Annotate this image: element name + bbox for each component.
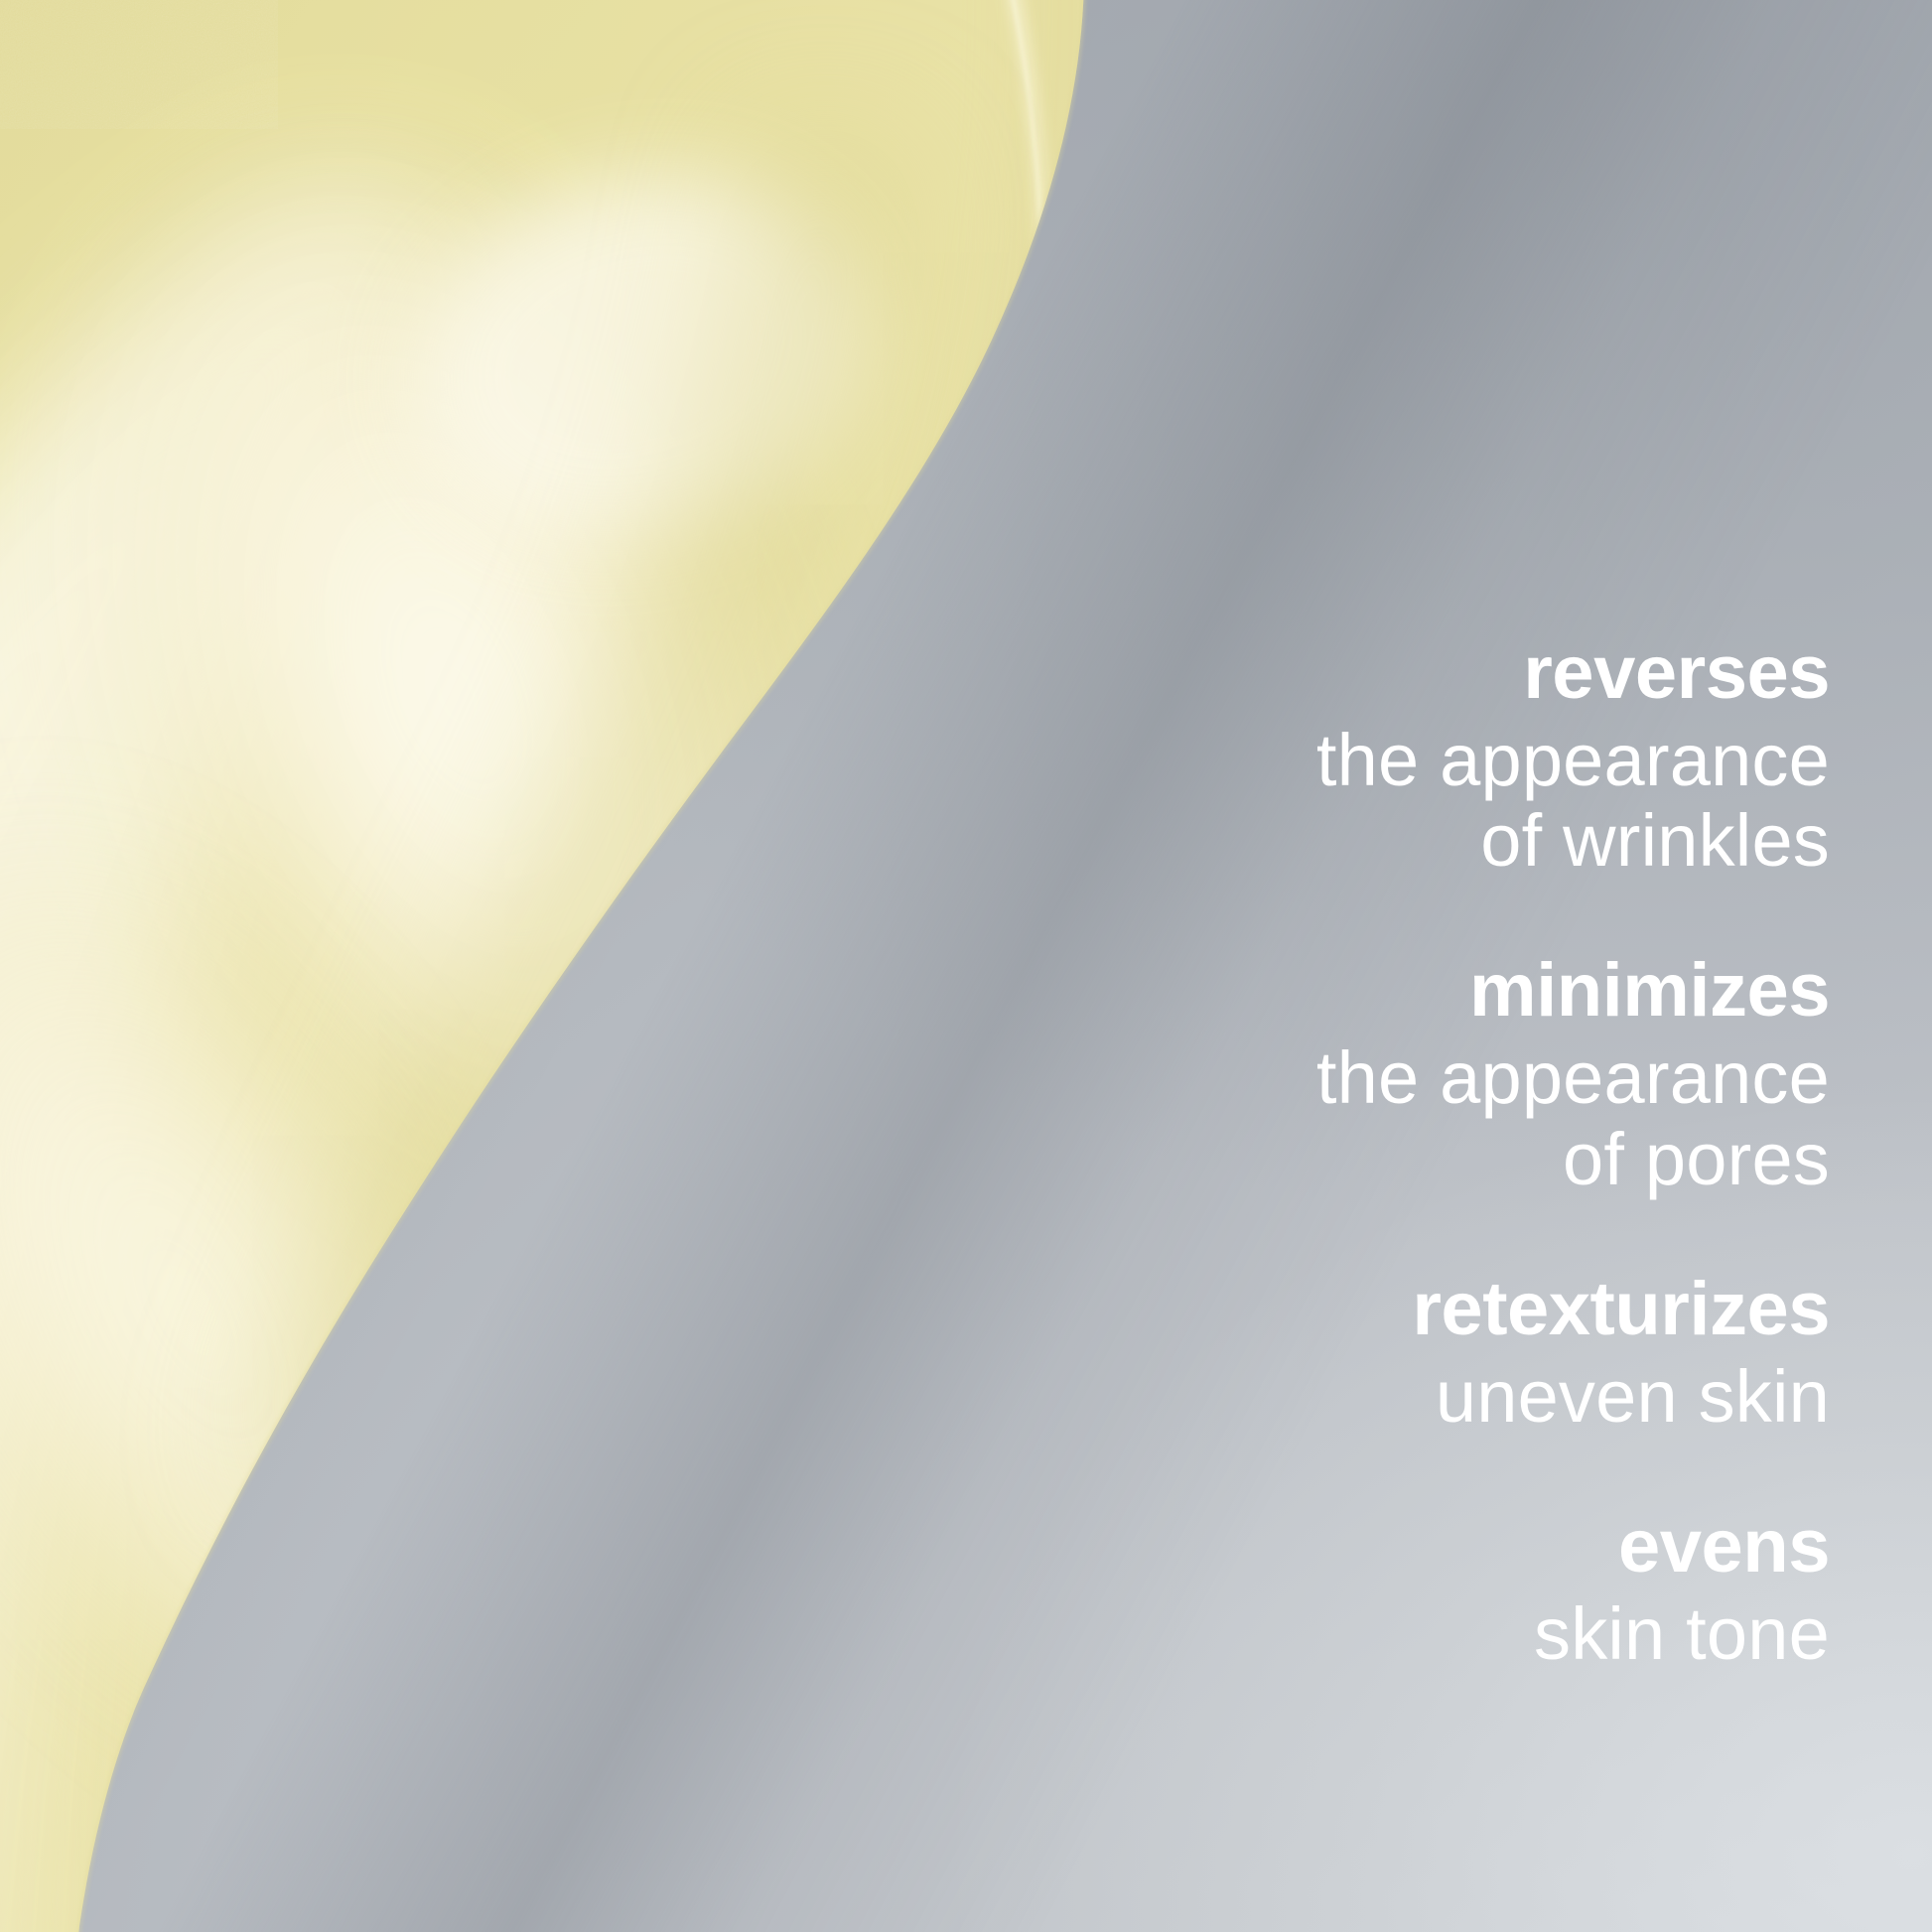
benefit-line: uneven skin — [916, 1357, 1830, 1436]
benefit-line: of wrinkles — [916, 801, 1830, 880]
benefit-line: of pores — [916, 1120, 1830, 1198]
benefits-list: reverses the appearance of wrinkles mini… — [916, 635, 1830, 1673]
benefit-item-reverses: reverses the appearance of wrinkles — [916, 635, 1830, 880]
benefit-item-minimizes: minimizes the appearance of pores — [916, 953, 1830, 1197]
benefit-headline: retexturizes — [916, 1272, 1830, 1347]
benefit-headline: reverses — [916, 635, 1830, 711]
benefit-item-evens: evens skin tone — [916, 1509, 1830, 1673]
product-benefit-graphic: reverses the appearance of wrinkles mini… — [0, 0, 1932, 1932]
benefit-line: skin tone — [916, 1594, 1830, 1673]
benefit-headline: minimizes — [916, 953, 1830, 1029]
benefit-headline: evens — [916, 1509, 1830, 1585]
benefit-line: the appearance — [916, 721, 1830, 799]
benefit-line: the appearance — [916, 1038, 1830, 1117]
benefit-item-retexturizes: retexturizes uneven skin — [916, 1272, 1830, 1436]
